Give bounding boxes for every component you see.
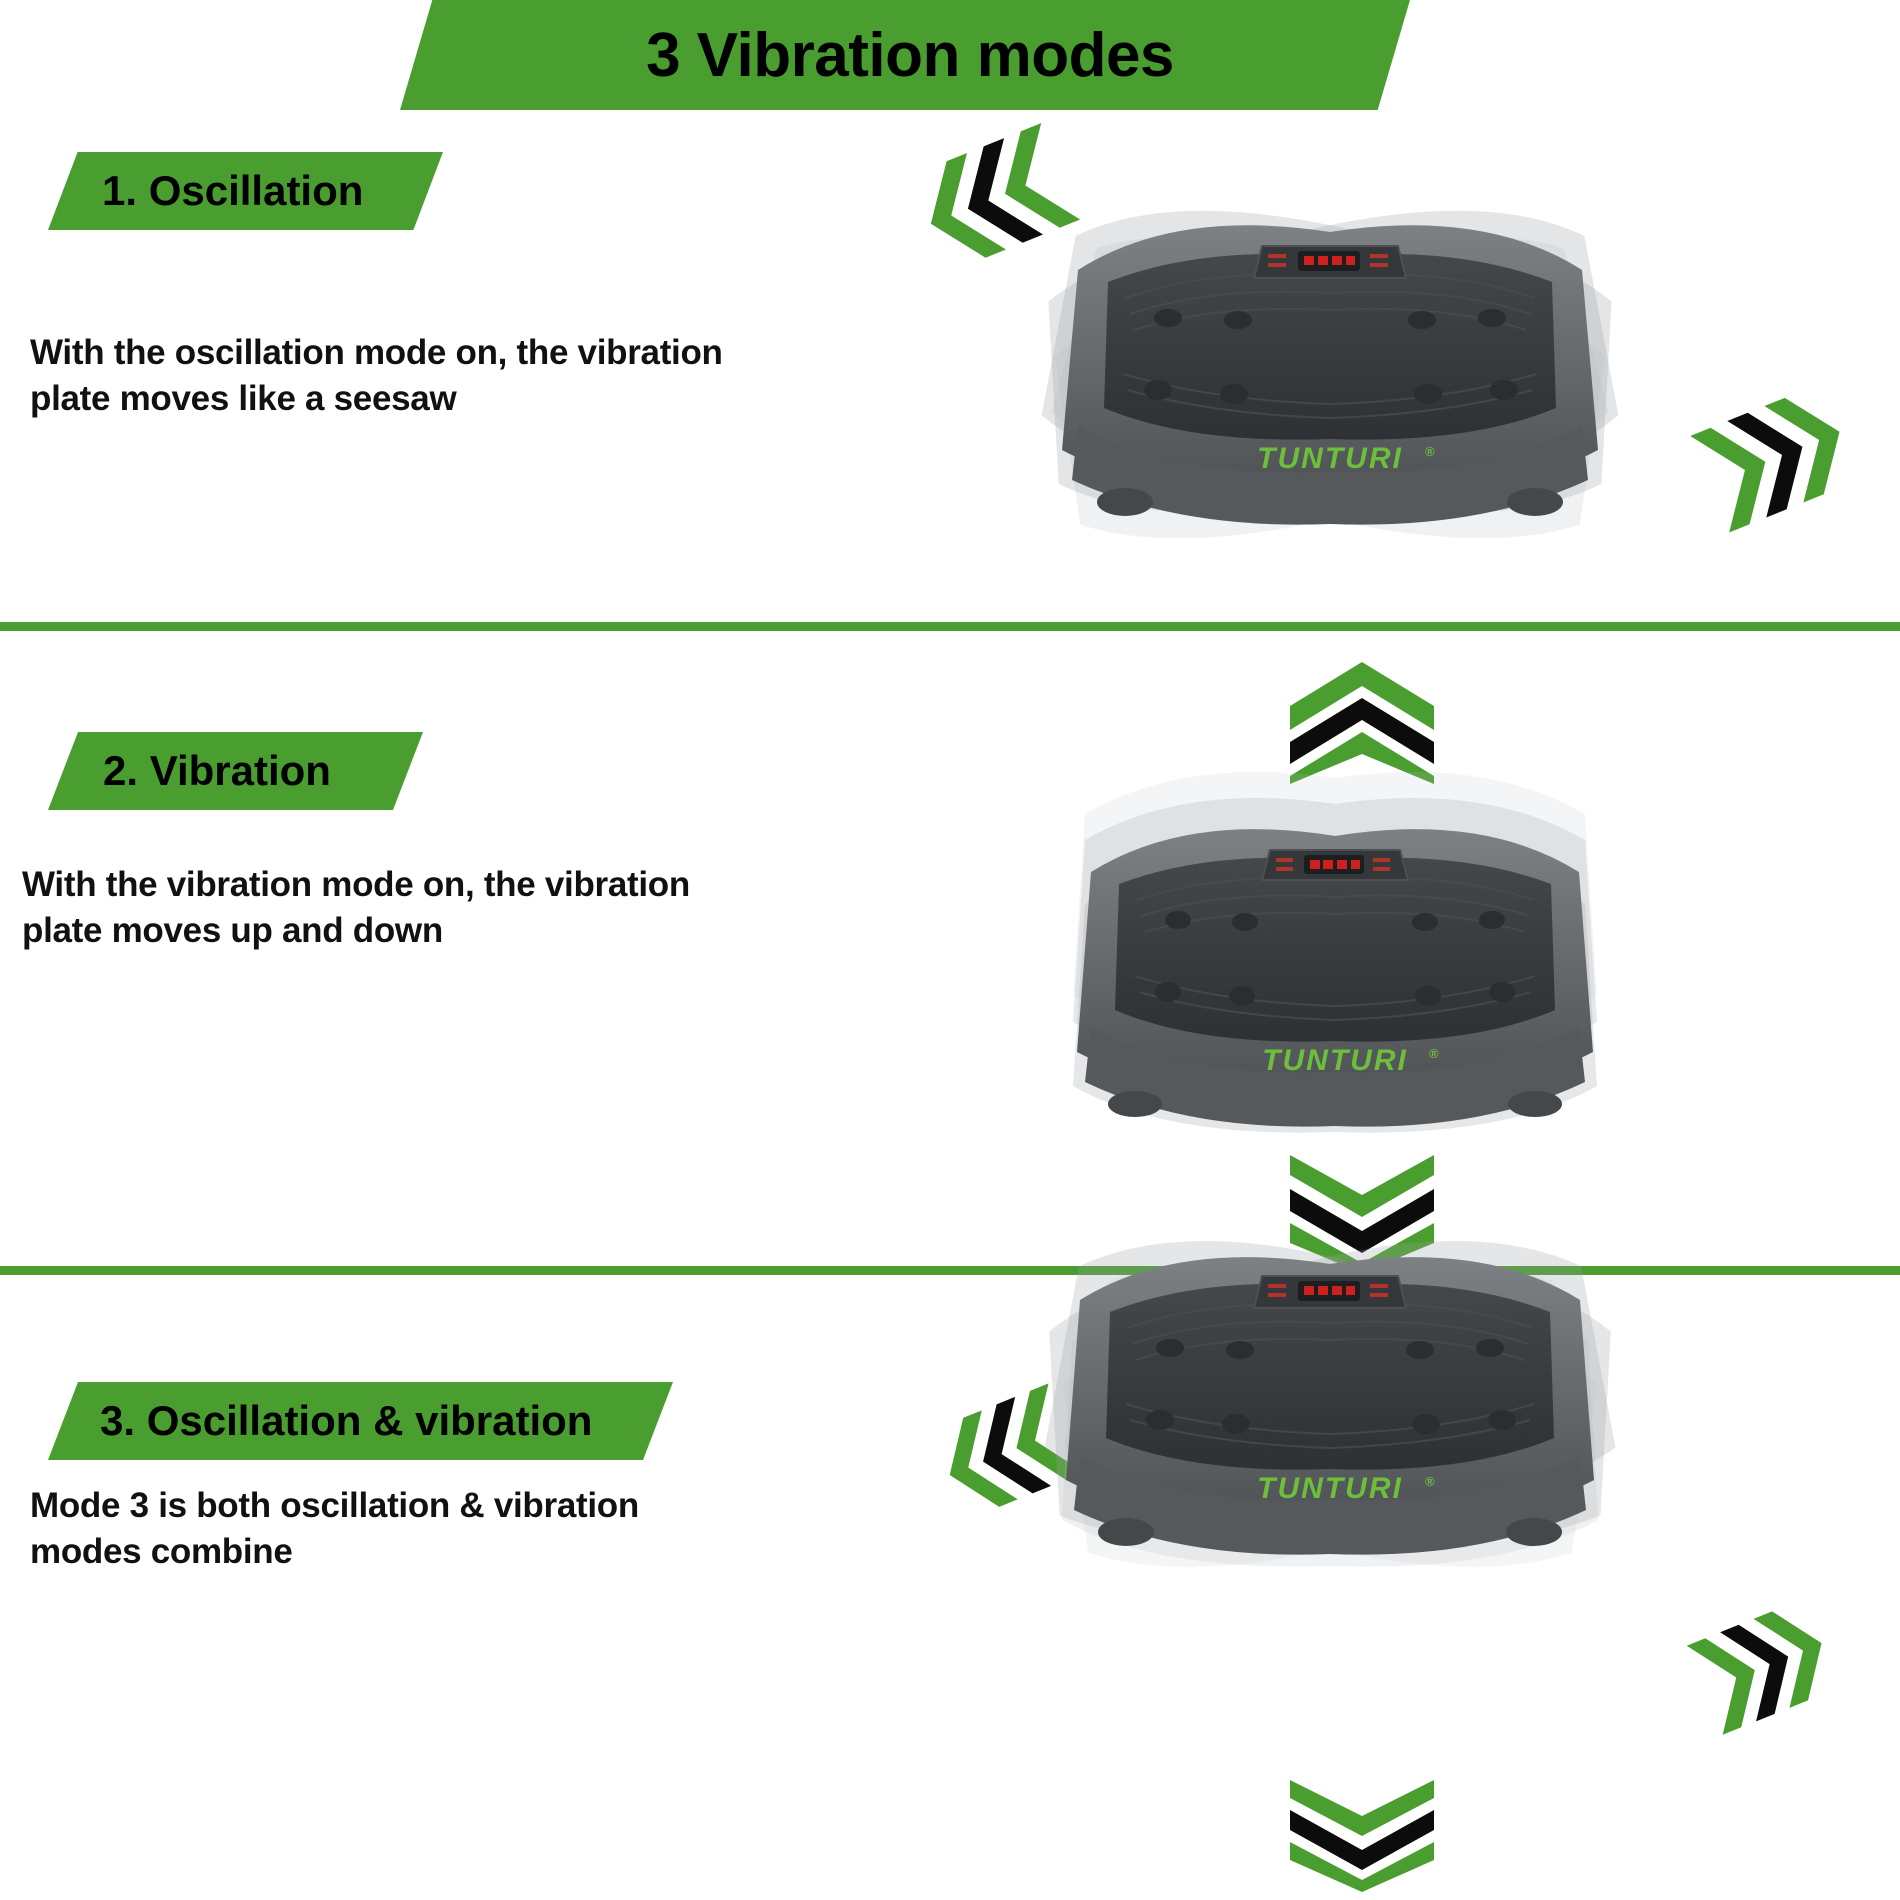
step-label-1: 1. Oscillation: [48, 167, 363, 215]
step-banner-1: 1. Oscillation: [48, 152, 443, 230]
vibration-plate-device-1: TUNTURI ®: [1000, 150, 1660, 580]
svg-text:®: ®: [1425, 1474, 1435, 1489]
step-label-2: 2. Vibration: [48, 747, 331, 795]
step-banner-2: 2. Vibration: [48, 732, 423, 810]
arrow-right-down-icon-3: [1690, 1610, 1850, 1720]
page-title-banner: 3 Vibration modes: [400, 0, 1410, 110]
step-label-3: 3. Oscillation & vibration: [48, 1397, 592, 1445]
step-banner-3: 3. Oscillation & vibration: [48, 1382, 673, 1460]
device-brand-1: TUNTURI: [1257, 442, 1403, 475]
step-body-2: With the vibration mode on, the vibratio…: [22, 862, 742, 954]
arrow-down-icon-3: [1282, 1780, 1442, 1892]
vibration-plate-device-3: TUNTURI ®: [1000, 1170, 1660, 1630]
step-body-1: With the oscillation mode on, the vibrat…: [30, 330, 730, 422]
svg-text:®: ®: [1425, 444, 1435, 459]
vibration-plate-device-2: TUNTURI ®: [1015, 760, 1655, 1180]
infographic-page: 3 Vibration modes 1. Oscillation With th…: [0, 0, 1900, 1900]
device-brand-3: TUNTURI: [1257, 1472, 1403, 1505]
arrow-right-down-icon-1: [1695, 398, 1865, 518]
svg-text:®: ®: [1429, 1046, 1439, 1061]
step-body-3: Mode 3 is both oscillation & vibration m…: [30, 1483, 670, 1575]
device-brand-2: TUNTURI: [1262, 1044, 1408, 1077]
page-title: 3 Vibration modes: [636, 20, 1174, 91]
